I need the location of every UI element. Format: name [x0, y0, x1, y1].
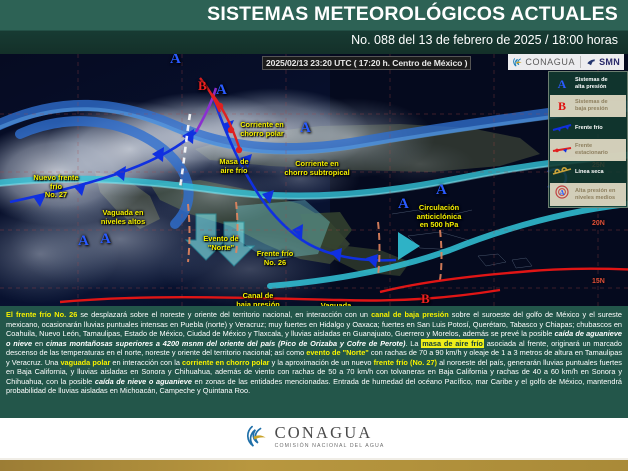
text-run: se desplazará sobre el noreste y oriente…: [77, 310, 371, 319]
lat-label-20n: 20N: [592, 220, 605, 227]
weather-bulletin-page: SISTEMAS METEOROLÓGICOS ACTUALES No. 088…: [0, 0, 628, 471]
text-run: vaguada polar: [60, 358, 110, 367]
text-run: en: [32, 339, 46, 348]
dry-line-icon: [552, 163, 572, 181]
legend-label: Alta presión en niveles medios: [575, 188, 615, 201]
text-run: El frente frío No. 26: [6, 310, 77, 319]
cold-front-icon: [552, 119, 572, 137]
logo-divider: [580, 56, 581, 68]
smn-eagle-icon: [586, 57, 597, 68]
legend-item-high-pressure: A Sistemas de alta presión: [550, 73, 626, 95]
bulletin-number-date: No. 088 del 13 de febrero de 2025 / 18:0…: [351, 33, 618, 47]
map-logo-strip: CONAGUA SMN: [508, 54, 624, 70]
low-pressure-marker: B: [421, 291, 430, 306]
text-run: . La: [405, 339, 421, 348]
map-legend: A Sistemas de alta presión B Sistemas de…: [548, 71, 628, 208]
high-pressure-marker: A: [436, 182, 447, 199]
conagua-wave-icon: [512, 57, 523, 68]
high-pressure-marker: A: [170, 54, 181, 68]
text-run: en interacción con la: [110, 358, 182, 367]
legend-label: Línea seca: [575, 169, 604, 176]
lat-label-15n: 15N: [592, 278, 605, 285]
text-run: canal de baja presión: [371, 310, 449, 319]
weather-map[interactable]: 25N 20N 15N 2025/02/13 23:20 UTC ( 17:20…: [0, 54, 628, 306]
conagua-footer-text: CONAGUA COMISIÓN NACIONAL DEL AGUA: [275, 425, 385, 449]
high-pressure-marker: A: [78, 233, 89, 250]
map-timestamp: 2025/02/13 23:20 UTC ( 17:20 h. Centro d…: [262, 56, 471, 70]
page-header: SISTEMAS METEOROLÓGICOS ACTUALES No. 088…: [0, 0, 628, 54]
low-pressure-marker: B: [198, 78, 207, 94]
text-run: evento de "Norte": [306, 348, 369, 357]
page-footer: CONAGUA COMISIÓN NACIONAL DEL AGUA: [0, 418, 628, 471]
svg-text:A: A: [559, 189, 564, 197]
legend-item-stationary-front: Frente estacionario: [550, 139, 626, 161]
conagua-logo-small: CONAGUA: [512, 57, 575, 68]
legend-item-dry-line: Línea seca: [550, 161, 626, 183]
conagua-wave-icon: [244, 424, 270, 450]
legend-item-mid-level-high: A Alta presión en niveles medios: [550, 183, 626, 206]
text-run: y la aproximación de un nuevo: [270, 358, 374, 367]
text-run: corriente en chorro polar: [182, 358, 270, 367]
high-pressure-marker: A: [216, 82, 227, 99]
legend-item-cold-front: Frente frío: [550, 117, 626, 139]
legend-label: Frente frío: [575, 125, 603, 132]
high-pressure-marker: A: [100, 231, 111, 248]
smn-logo-small: SMN: [586, 57, 620, 68]
footer-logo-subtitle: COMISIÓN NACIONAL DEL AGUA: [275, 444, 385, 449]
legend-label: Frente estacionario: [575, 143, 608, 156]
forecast-text-block: El frente frío No. 26 se desplazará sobr…: [0, 306, 628, 418]
footer-logo-title: CONAGUA: [275, 425, 385, 442]
high-pressure-marker: A: [398, 196, 409, 213]
text-run: caída de nieve o aguanieve: [95, 377, 192, 386]
text-run: masa de aire frío: [421, 339, 484, 348]
text-run: frente frío (No. 27): [374, 358, 437, 367]
smn-logo-text: SMN: [599, 57, 620, 67]
conagua-footer-logo: CONAGUA COMISIÓN NACIONAL DEL AGUA: [244, 424, 385, 450]
legend-label: Sistemas de alta presión: [575, 77, 608, 90]
high-pressure-A-icon: A: [552, 75, 572, 93]
legend-item-low-pressure: B Sistemas de baja presión: [550, 95, 626, 117]
mid-level-high-icon: A: [552, 185, 572, 204]
page-title: SISTEMAS METEOROLÓGICOS ACTUALES: [207, 3, 618, 26]
high-pressure-marker: A: [300, 120, 311, 137]
satellite-basemap: [0, 54, 628, 306]
forecast-paragraph: El frente frío No. 26 se desplazará sobr…: [6, 310, 622, 395]
text-run: cimas montañosas superiores a 4200 msnm …: [46, 339, 406, 348]
stationary-front-icon: [552, 141, 572, 159]
legend-label: Sistemas de baja presión: [575, 99, 608, 112]
low-pressure-B-icon: B: [552, 97, 572, 115]
footer-gold-bar: [0, 460, 628, 471]
conagua-logo-text: CONAGUA: [525, 57, 575, 67]
